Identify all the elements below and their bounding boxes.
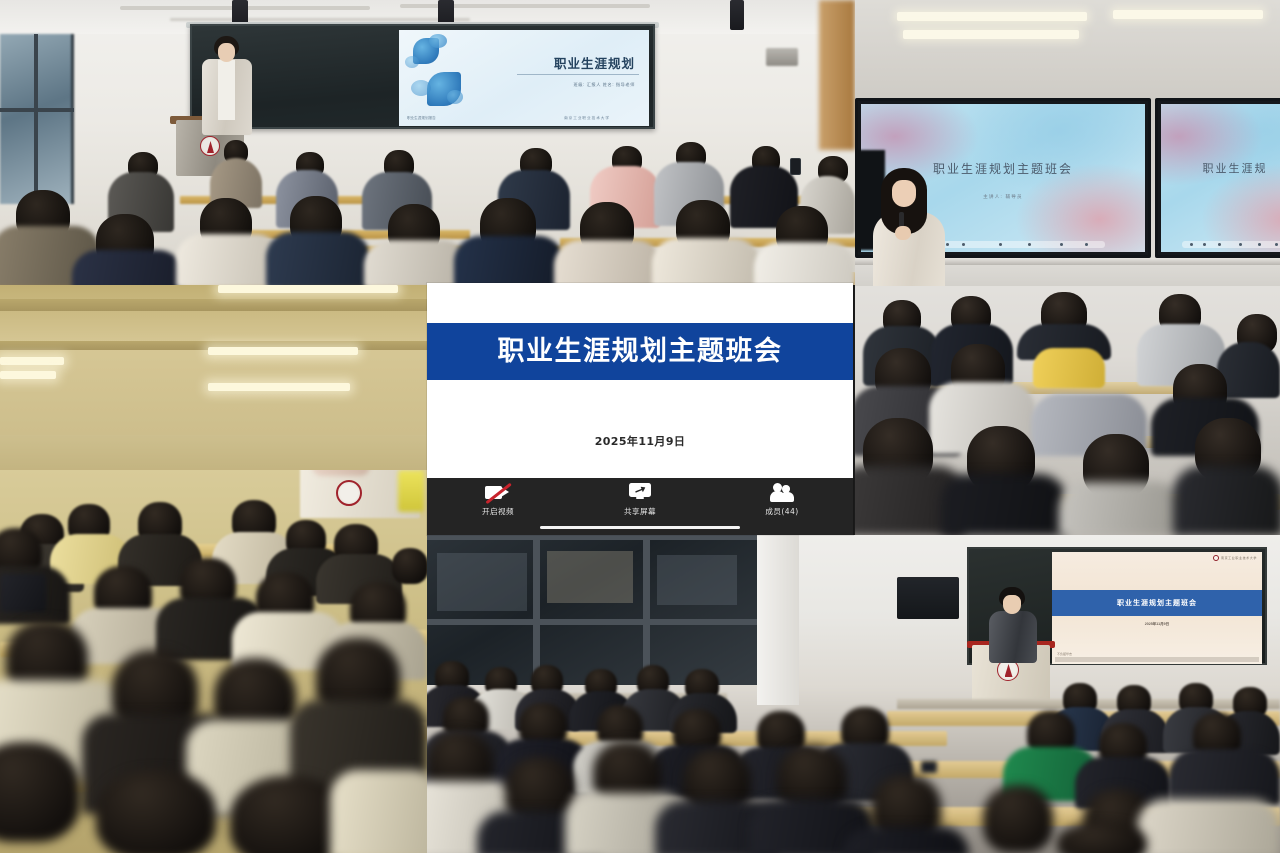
slide-title: 职业生涯规划主题班会 [498,338,783,365]
backpack [0,574,46,612]
university-crest-icon [336,480,362,506]
photo-top-right-presenter: 职业生涯规划主题班会 主讲人: 辅导员 职业生涯规 [855,0,1280,535]
slide-title: 职业生涯规划主题班会 [1117,598,1197,608]
window-wall [427,535,757,685]
slide-top-margin [427,283,853,323]
share-screen-button[interactable]: 共享屏幕 [569,482,711,517]
photo-top-left-classroom: 职业生涯规划 班级: 汇报人 姓名: 指导老师 职业生涯规划报告 南 京 工 业… [0,0,855,285]
yellow-hoodie [1033,348,1105,388]
blackboard: 职业生涯规划 班级: 汇报人 姓名: 指导老师 职业生涯规划报告 南 京 工 业… [190,24,655,129]
smartphone [790,158,801,175]
video-meeting-screenshot: 职业生涯规划主题班会 2025年11月9日 开启视频 [427,283,853,535]
projected-slide: 南京工业职业技术大学 职业生涯规划主题班会 2025年11月9日 不负韶华志 [1052,552,1262,664]
wall-speaker [897,577,959,619]
slide-footer-right: 南 京 工 业 职 业 技 术 大 学 [564,116,609,121]
slide-body [427,380,853,478]
share-screen-icon [625,482,655,503]
toggle-video-button[interactable]: 开启视频 [427,482,569,517]
audience [855,286,1280,535]
person-blur [312,470,370,476]
share-screen-label: 共享屏幕 [624,506,656,517]
logo-text: 南京工业职业技术大学 [1221,556,1257,560]
slide-date: 2025年11月9日 [427,433,853,449]
slide-title-2: 职业生涯规 [1161,160,1280,176]
pillar [757,535,799,705]
display-screen-2: 职业生涯规 [1155,98,1280,258]
toggle-video-label: 开启视频 [482,506,514,517]
slide-title-band: 职业生涯规划主题班会 [427,323,853,380]
meeting-toolbar: 开启视频 共享屏幕 [427,478,853,535]
slide-date: 2025年11月9日 [1052,622,1262,627]
university-crest-icon [200,136,220,156]
photo-bottom-lecture-hall: 南京工业职业技术大学 职业生涯规划主题班会 2025年11月9日 不负韶华志 [427,535,1280,853]
slide-subtitle: 班级: 汇报人 姓名: 指导老师 [574,82,635,88]
slide-footer: 不负韶华志 [1057,652,1072,656]
members-button[interactable]: 成员(44) [711,482,853,517]
wall-panel [766,48,798,66]
slide-title: 职业生涯规划 [554,53,635,72]
photo-bottom-left-audience [0,470,427,853]
members-icon [767,482,797,503]
photo-collage: 职业生涯规划 班级: 汇报人 姓名: 指导老师 职业生涯规划报告 南 京 工 业… [0,0,1280,853]
camera-off-icon [483,482,513,503]
home-indicator[interactable] [540,526,740,530]
projected-slide: 职业生涯规划 班级: 汇报人 姓名: 指导老师 职业生涯规划报告 南 京 工 业… [399,30,649,126]
door-frame [819,0,855,150]
members-label: 成员(44) [765,506,798,517]
slide-footer-left: 职业生涯规划报告 [407,116,436,121]
smartphone [921,761,937,773]
ceiling-speaker [730,0,744,30]
yellow-bag [398,470,424,512]
